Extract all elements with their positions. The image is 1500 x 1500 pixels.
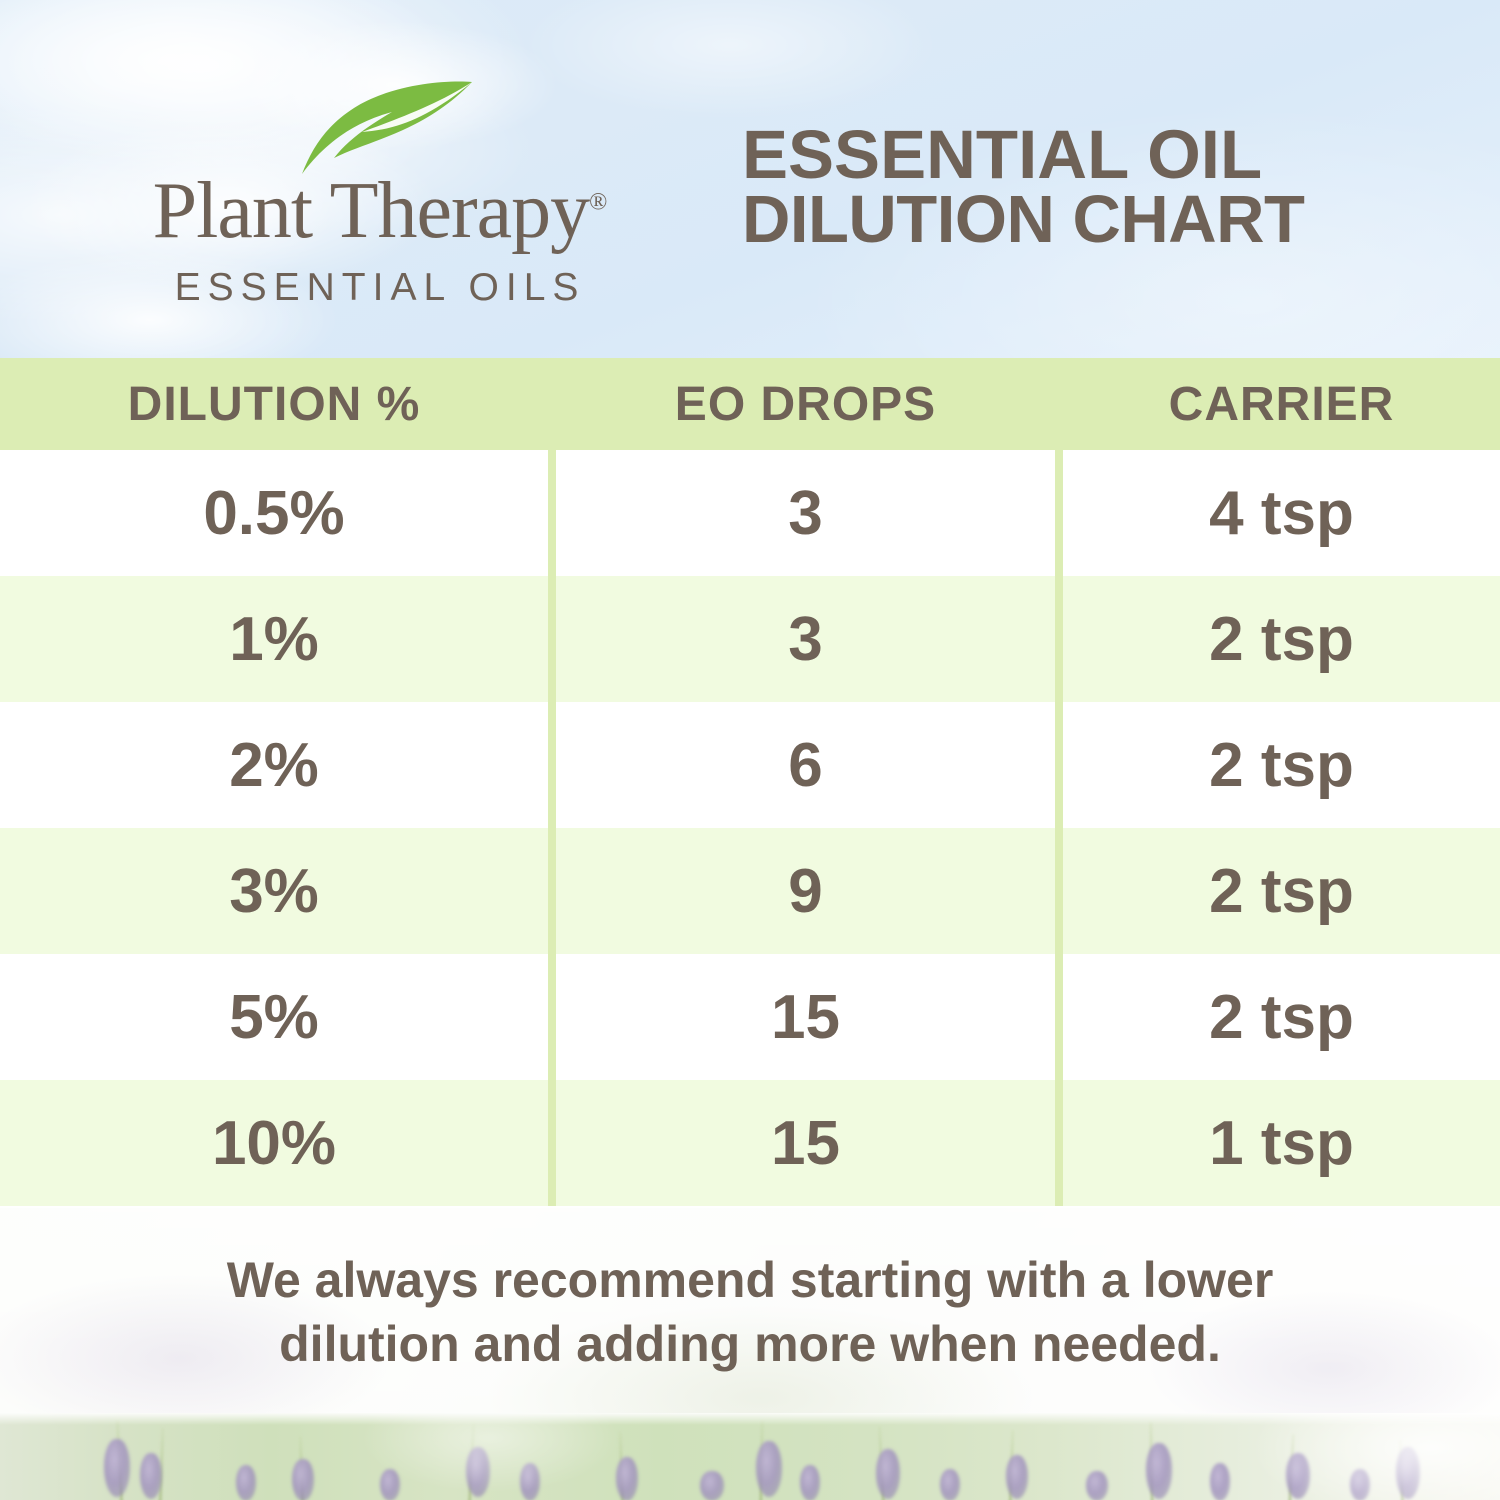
column-header-eo-drops: EO DROPS — [556, 377, 1055, 432]
table-row: 1% 3 2 tsp — [0, 576, 1500, 702]
cell-carrier: 2 tsp — [1063, 604, 1500, 675]
title-line-2: DILUTION CHART — [742, 188, 1422, 252]
table-row: 10% 15 1 tsp — [0, 1080, 1500, 1206]
cell-dilution: 2% — [0, 730, 548, 801]
column-divider — [1055, 358, 1063, 450]
column-divider — [548, 358, 556, 450]
cell-drops: 15 — [556, 982, 1055, 1053]
column-header-dilution: DILUTION % — [0, 377, 548, 432]
footer-recommendation: We always recommend starting with a lowe… — [0, 1248, 1500, 1376]
column-divider — [548, 576, 556, 702]
dilution-table: DILUTION % EO DROPS CARRIER 0.5% 3 4 tsp… — [0, 358, 1500, 1208]
registered-mark: ® — [589, 189, 607, 215]
column-divider — [548, 954, 556, 1080]
column-divider — [1055, 702, 1063, 828]
column-divider — [548, 450, 556, 576]
cell-drops: 15 — [556, 1108, 1055, 1179]
cell-drops: 3 — [556, 478, 1055, 549]
lavender-field-photo — [0, 1413, 1500, 1500]
cell-dilution: 0.5% — [0, 478, 548, 549]
leaf-icon — [296, 78, 476, 178]
cell-drops: 6 — [556, 730, 1055, 801]
cell-carrier: 1 tsp — [1063, 1108, 1500, 1179]
column-divider — [548, 702, 556, 828]
brand-name: Plant Therapy — [153, 167, 590, 255]
column-divider — [1055, 576, 1063, 702]
column-divider — [1055, 954, 1063, 1080]
column-divider — [1055, 450, 1063, 576]
column-header-carrier: CARRIER — [1063, 377, 1500, 432]
table-row: 3% 9 2 tsp — [0, 828, 1500, 954]
cell-carrier: 2 tsp — [1063, 730, 1500, 801]
dilution-chart-page: Plant Therapy® ESSENTIAL OILS ESSENTIAL … — [0, 0, 1500, 1500]
footer-line-2: dilution and adding more when needed. — [0, 1312, 1500, 1376]
table-row: 2% 6 2 tsp — [0, 702, 1500, 828]
cell-dilution: 1% — [0, 604, 548, 675]
column-divider — [1055, 1080, 1063, 1206]
cell-drops: 9 — [556, 856, 1055, 927]
brand-logo: Plant Therapy® ESSENTIAL OILS — [100, 78, 660, 288]
cell-drops: 3 — [556, 604, 1055, 675]
cell-carrier: 2 tsp — [1063, 856, 1500, 927]
brand-tagline: ESSENTIAL OILS — [100, 266, 660, 310]
cell-carrier: 2 tsp — [1063, 982, 1500, 1053]
brand-wordmark: Plant Therapy® — [100, 171, 660, 251]
column-divider — [548, 1080, 556, 1206]
title-line-1: ESSENTIAL OIL — [742, 122, 1422, 188]
cell-carrier: 4 tsp — [1063, 478, 1500, 549]
table-header-row: DILUTION % EO DROPS CARRIER — [0, 358, 1500, 450]
table-row: 5% 15 2 tsp — [0, 954, 1500, 1080]
column-divider — [548, 828, 556, 954]
column-divider — [1055, 828, 1063, 954]
header-sky-banner: Plant Therapy® ESSENTIAL OILS ESSENTIAL … — [0, 0, 1500, 358]
cell-dilution: 5% — [0, 982, 548, 1053]
footer-note: We always recommend starting with a lowe… — [0, 1208, 1500, 1413]
table-body: 0.5% 3 4 tsp 1% 3 2 tsp 2% 6 2 tsp — [0, 450, 1500, 1206]
footer-line-1: We always recommend starting with a lowe… — [0, 1248, 1500, 1312]
page-title: ESSENTIAL OIL DILUTION CHART — [742, 122, 1422, 253]
table-row: 0.5% 3 4 tsp — [0, 450, 1500, 576]
cell-dilution: 3% — [0, 856, 548, 927]
cell-dilution: 10% — [0, 1108, 548, 1179]
